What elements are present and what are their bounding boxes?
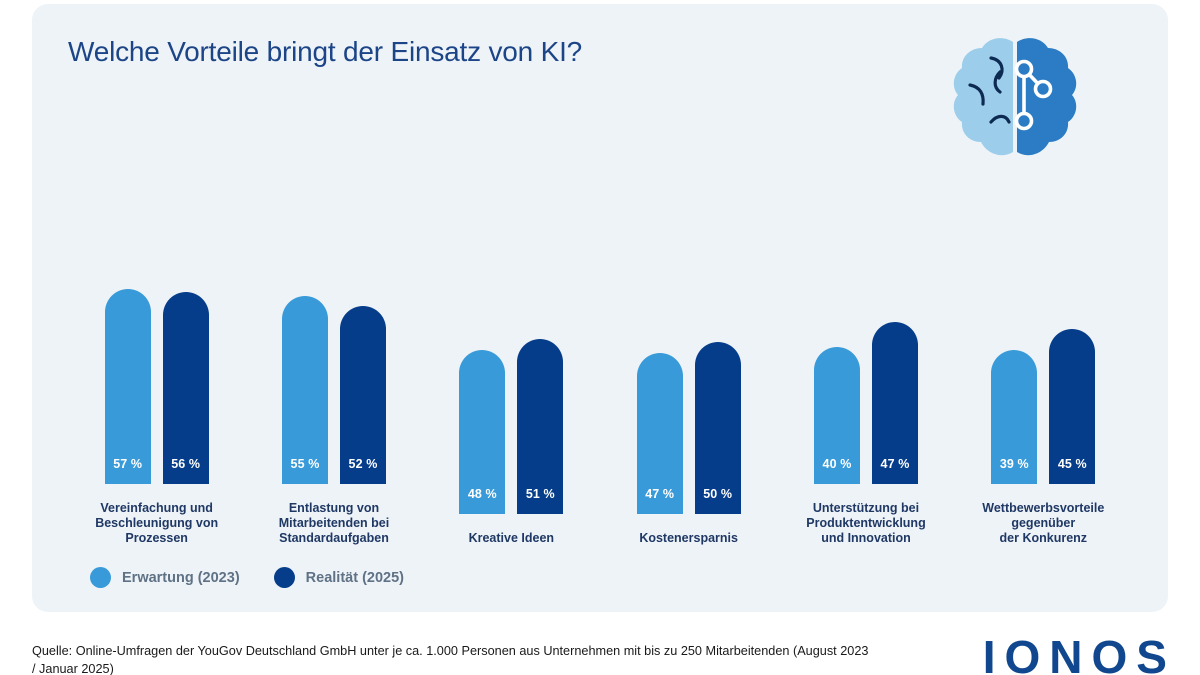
bar-group: 48 % 51 % Kreative Ideen bbox=[423, 134, 600, 546]
legend-label: Realität (2025) bbox=[306, 570, 404, 586]
legend-item-realitaet[interactable]: Realität (2025) bbox=[274, 567, 404, 588]
bar-value-label: 55 % bbox=[291, 457, 320, 484]
bar-reality[interactable]: 51 % bbox=[517, 339, 563, 514]
bar-group: 47 % 50 % Kostenersparnis bbox=[600, 134, 777, 546]
bar-chart-plot: 57 % 56 % Vereinfachung und Beschleunigu… bbox=[68, 134, 1132, 546]
bar-group: 39 % 45 % Wettbewerbsvorteile gegenüber … bbox=[955, 134, 1132, 546]
bar-reality[interactable]: 45 % bbox=[1049, 329, 1095, 484]
bar-group: 57 % 56 % Vereinfachung und Beschleunigu… bbox=[68, 134, 245, 546]
legend-swatch-icon bbox=[90, 567, 111, 588]
bar-pair: 47 % 50 % bbox=[637, 171, 741, 514]
bar-reality[interactable]: 47 % bbox=[872, 322, 918, 484]
bar-value-label: 50 % bbox=[703, 487, 732, 514]
bar-reality[interactable]: 56 % bbox=[163, 292, 209, 484]
legend-item-erwartung[interactable]: Erwartung (2023) bbox=[90, 567, 240, 588]
bar-reality[interactable]: 52 % bbox=[340, 306, 386, 484]
bar-value-label: 56 % bbox=[171, 457, 200, 484]
bar-value-label: 47 % bbox=[645, 487, 674, 514]
bar-expectation[interactable]: 55 % bbox=[282, 296, 328, 484]
bar-pair: 48 % 51 % bbox=[459, 171, 563, 514]
category-label: Entlastung von Mitarbeitenden bei Standa… bbox=[279, 501, 389, 546]
bar-pair: 39 % 45 % bbox=[991, 141, 1095, 484]
bar-expectation[interactable]: 39 % bbox=[991, 350, 1037, 484]
bar-value-label: 51 % bbox=[526, 487, 555, 514]
bar-pair: 57 % 56 % bbox=[105, 141, 209, 484]
category-label: Wettbewerbsvorteile gegenüber der Konkur… bbox=[982, 501, 1104, 546]
bar-expectation[interactable]: 40 % bbox=[814, 347, 860, 484]
bar-reality[interactable]: 50 % bbox=[695, 342, 741, 514]
bar-value-label: 57 % bbox=[113, 457, 142, 484]
bar-value-label: 47 % bbox=[881, 457, 910, 484]
ionos-logo: IONOS bbox=[983, 634, 1176, 675]
bar-value-label: 45 % bbox=[1058, 457, 1087, 484]
bar-expectation[interactable]: 57 % bbox=[105, 289, 151, 484]
infographic-root: Welche Vorteile bringt der Einsatz von K… bbox=[0, 0, 1200, 675]
bar-value-label: 48 % bbox=[468, 487, 497, 514]
bar-expectation[interactable]: 47 % bbox=[637, 353, 683, 514]
legend-label: Erwartung (2023) bbox=[122, 570, 240, 586]
chart-card: Welche Vorteile bringt der Einsatz von K… bbox=[32, 4, 1168, 612]
category-label: Vereinfachung und Beschleunigung von Pro… bbox=[95, 501, 218, 546]
source-note: Quelle: Online-Umfragen der YouGov Deuts… bbox=[32, 643, 872, 675]
bar-value-label: 39 % bbox=[1000, 457, 1029, 484]
chart-legend: Erwartung (2023) Realität (2025) bbox=[90, 567, 404, 588]
bar-value-label: 40 % bbox=[823, 457, 852, 484]
bar-group: 55 % 52 % Entlastung von Mitarbeitenden … bbox=[245, 134, 422, 546]
category-label: Kreative Ideen bbox=[469, 531, 554, 546]
bar-group: 40 % 47 % Unterstützung bei Produktentwi… bbox=[777, 134, 954, 546]
page-title: Welche Vorteile bringt der Einsatz von K… bbox=[68, 36, 582, 68]
category-label: Unterstützung bei Produktentwicklung und… bbox=[806, 501, 925, 546]
bar-value-label: 52 % bbox=[349, 457, 378, 484]
bar-pair: 40 % 47 % bbox=[814, 141, 918, 484]
bar-expectation[interactable]: 48 % bbox=[459, 350, 505, 514]
legend-swatch-icon bbox=[274, 567, 295, 588]
category-label: Kostenersparnis bbox=[639, 531, 738, 546]
bar-pair: 55 % 52 % bbox=[282, 141, 386, 484]
